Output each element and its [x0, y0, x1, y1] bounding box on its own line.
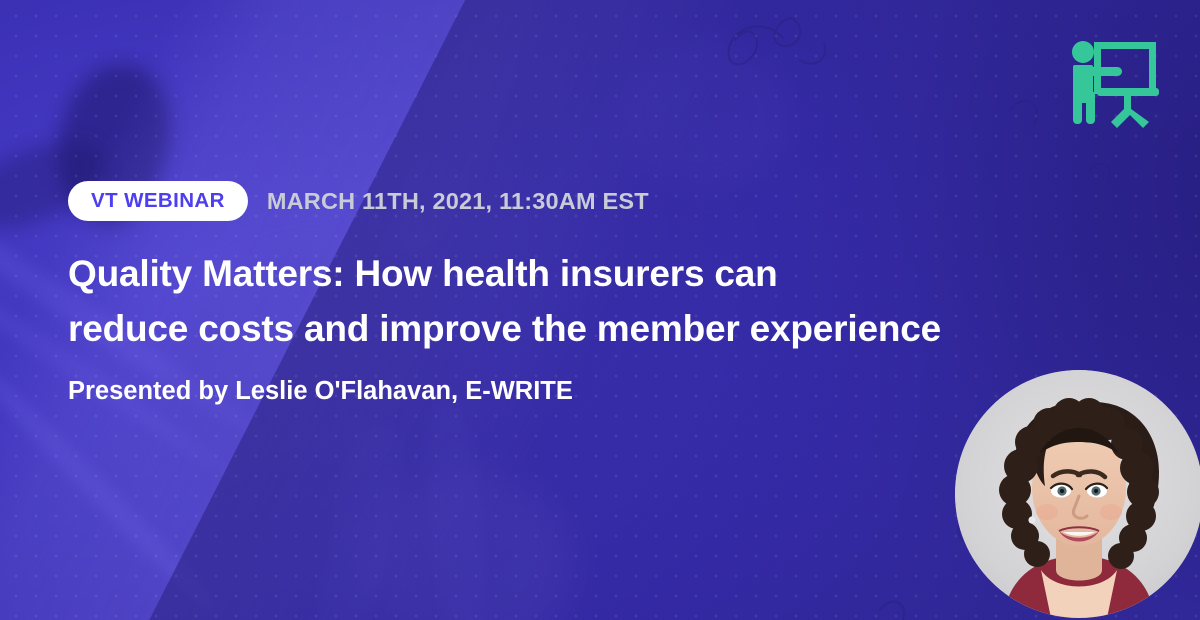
title-line-2: reduce costs and improve the member expe… [68, 301, 1058, 356]
meta-row: VT WEBINAR MARCH 11TH, 2021, 11:30AM EST [68, 180, 1058, 222]
webinar-badge: VT WEBINAR [68, 181, 248, 221]
webinar-date: MARCH 11TH, 2021, 11:30AM EST [267, 188, 649, 215]
banner-content: VT WEBINAR MARCH 11TH, 2021, 11:30AM EST… [68, 180, 1058, 406]
presenter-whiteboard-icon [1064, 36, 1160, 128]
webinar-banner: VT WEBINAR MARCH 11TH, 2021, 11:30AM EST… [0, 0, 1200, 620]
webinar-title: Quality Matters: How health insurers can… [68, 246, 1058, 356]
speaker-photo [955, 370, 1200, 618]
title-line-1: Quality Matters: How health insurers can [68, 246, 1058, 301]
speaker-headshot-illustration [955, 370, 1200, 618]
presenter-line: Presented by Leslie O'Flahavan, E-WRITE [68, 377, 1058, 406]
